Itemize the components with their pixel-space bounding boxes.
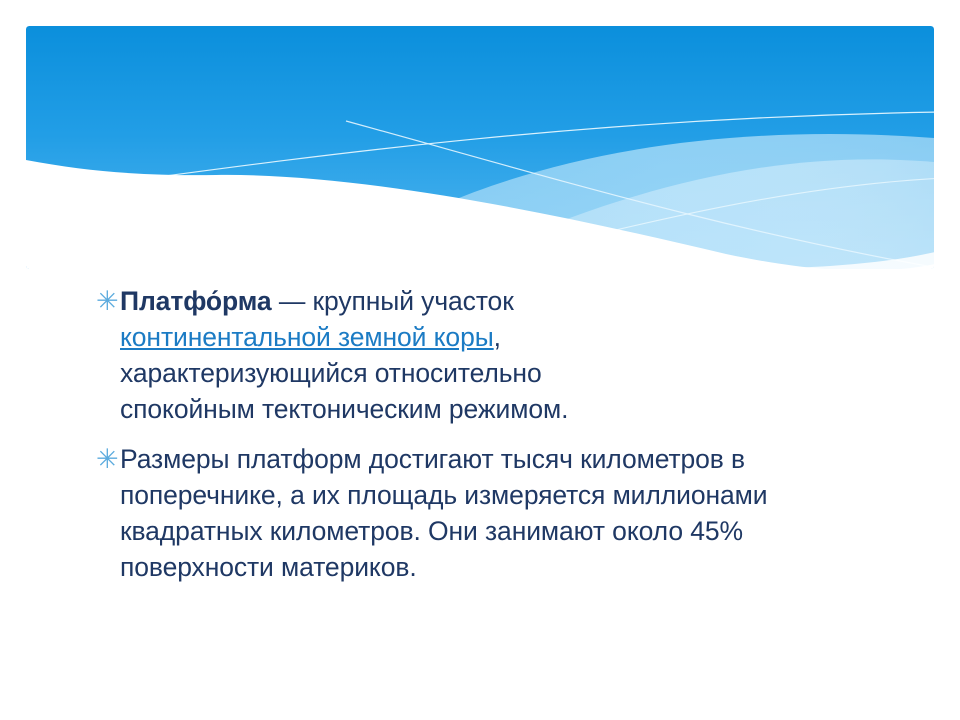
list-item: ✳ Размеры платформ достигают тысяч килом… (90, 441, 880, 585)
bullet-asterisk-icon: ✳ (90, 283, 120, 319)
bullet-1-plain-a: — крупный участок (272, 286, 514, 316)
slide-header-banner (26, 26, 934, 269)
presentation-slide: ✳ Платфо́рма — крупный участок континент… (0, 0, 960, 720)
link-continental-crust[interactable]: континентальной земной коры (120, 322, 494, 352)
bullet-asterisk-icon: ✳ (90, 441, 120, 477)
blue-wave-graphic (26, 26, 934, 269)
bullet-2-text: Размеры платформ достигают тысяч километ… (120, 441, 780, 585)
list-item: ✳ Платфо́рма — крупный участок континент… (90, 283, 880, 427)
slide-body-content: ✳ Платфо́рма — крупный участок континент… (90, 283, 880, 599)
term-platform: Платфо́рма (120, 286, 272, 316)
bullet-1-text: Платфо́рма — крупный участок континентал… (120, 283, 590, 427)
